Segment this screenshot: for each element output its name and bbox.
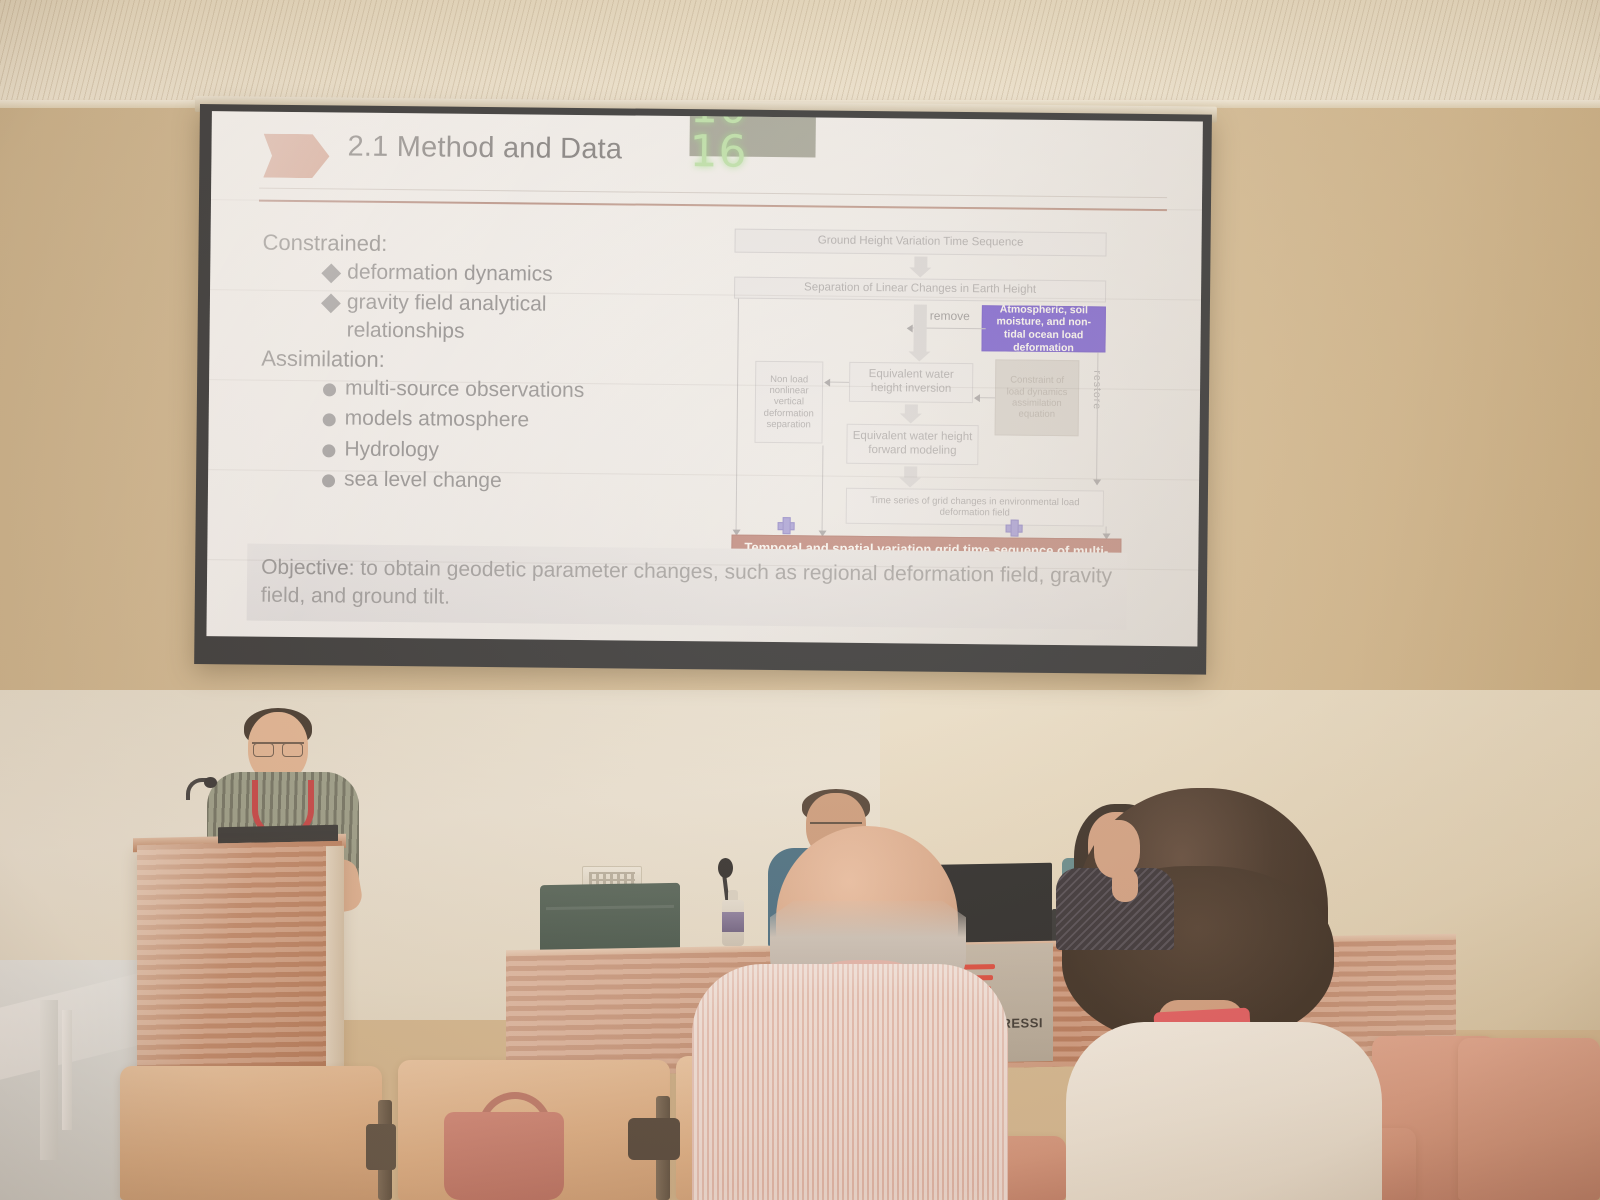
list-item-continuation: relationships: [262, 318, 662, 346]
dot-bullet-icon: [323, 414, 336, 427]
flow-arrow-down: [914, 256, 927, 268]
flow-label-remove: remove: [930, 309, 970, 323]
objective-box: Objective: to obtain geodetic parameter …: [247, 544, 1128, 630]
floor-object: [628, 1118, 680, 1160]
list-item: deformation dynamics: [262, 259, 662, 290]
ribbed-ceiling: [0, 0, 1600, 112]
clock-overlay: 10 16: [689, 111, 816, 157]
presentation-slide: 2.1 Method and Data Constrained: deforma…: [206, 111, 1202, 646]
diamond-bullet-icon: [321, 294, 341, 314]
flow-box-ground-height: Ground Height Variation Time Sequence: [734, 229, 1106, 257]
audience-chair: [1458, 1038, 1600, 1200]
heading-constrained: Constrained:: [262, 230, 662, 260]
list-item: Hydrology: [260, 435, 660, 466]
microphone-icon: [204, 777, 217, 788]
floor-object: [366, 1124, 396, 1170]
audience-chair: [120, 1066, 382, 1200]
water-bottle-label: [722, 912, 744, 932]
list-item: models atmosphere: [261, 405, 661, 436]
audience-member-1-torso: [692, 964, 1008, 1200]
list-item-label: gravity field analytical: [347, 290, 547, 319]
flow-connector-down-mid: [822, 446, 824, 536]
flow-connector-down-left: [736, 491, 737, 535]
podium-side-panel: [326, 846, 344, 1074]
glass-post-secondary: [62, 1010, 72, 1130]
flow-arrow-down: [913, 304, 927, 352]
hexagon-arrow-icon: [263, 134, 329, 179]
flow-box-constraint-equation: Constraint of load dynamics assimilation…: [995, 359, 1080, 436]
list-item-label: models atmosphere: [345, 406, 530, 434]
flow-connector-left-rail: [736, 299, 739, 491]
page-title: 2.1 Method and Data: [347, 131, 622, 167]
dot-bullet-icon: [322, 475, 335, 488]
bullet-list-panel: Constrained: deformation dynamics gravit…: [260, 230, 663, 501]
flow-box-grid-time-series: Time series of grid changes in environme…: [846, 488, 1104, 527]
glass-post: [40, 1000, 58, 1160]
flow-connector-down-right: [1105, 527, 1106, 539]
heading-assimilation: Assimilation:: [261, 346, 661, 376]
flow-box-atmospheric-load: Atmospheric, soil moisture, and non-tida…: [981, 305, 1105, 352]
list-item-label: multi-source observations: [345, 375, 585, 404]
list-item-label: Hydrology: [344, 436, 439, 463]
flow-box-ewh-forward-modeling: Equivalent water height forward modeling: [846, 424, 978, 465]
flow-box-ewh-inversion: Equivalent water height inversion: [849, 362, 973, 403]
projection-screen: 2.1 Method and Data Constrained: deforma…: [194, 104, 1212, 675]
flow-connector-to-nonload: [825, 382, 849, 383]
bag: [444, 1112, 564, 1200]
flow-arrow-down: [905, 404, 918, 414]
conference-room-scene: 2.1 Method and Data Constrained: deforma…: [0, 0, 1600, 1200]
plus-icon: [778, 517, 793, 532]
flow-connector-restore: [1096, 352, 1098, 484]
audience-member-2-torso: [1066, 1022, 1382, 1200]
plus-icon: [1006, 519, 1021, 534]
podium-highlight: [137, 841, 342, 1075]
diamond-bullet-icon: [321, 263, 341, 283]
panelist-female-hand: [1112, 868, 1138, 902]
flow-connector-constraint: [975, 397, 995, 398]
flow-box-nonload-separation: Non load nonlinear vertical deformation …: [754, 361, 823, 444]
list-item: multi-source observations: [261, 375, 661, 406]
dot-bullet-icon: [322, 444, 335, 457]
clock-time: 10 16: [689, 111, 816, 175]
glasses-icon: [252, 742, 304, 753]
microphone-icon: [718, 858, 733, 878]
panel-chair: [540, 883, 680, 957]
list-item-label: deformation dynamics: [347, 260, 553, 289]
dot-bullet-icon: [323, 383, 336, 396]
